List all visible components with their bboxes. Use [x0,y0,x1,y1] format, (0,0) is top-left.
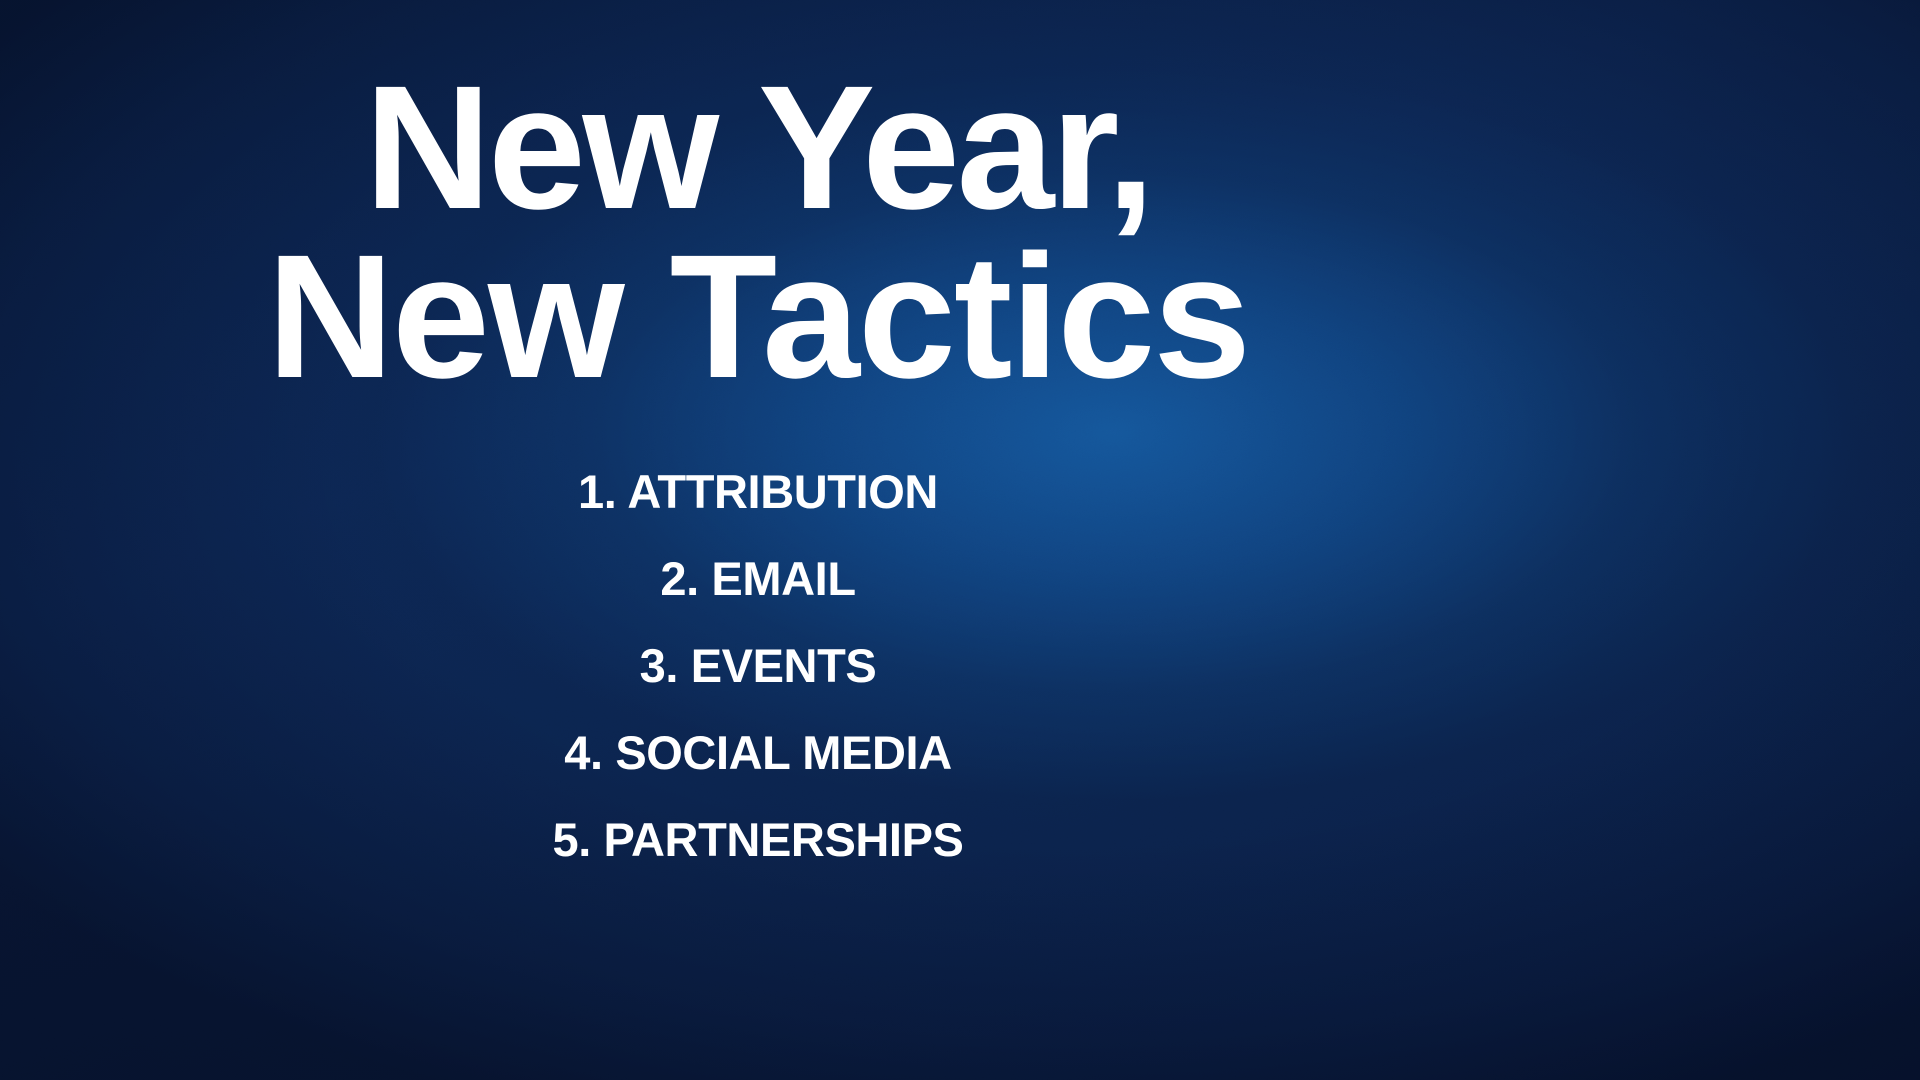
slide-content: New Year, New Tactics 1. ATTRIBUTION 2. … [0,0,1920,1080]
tactics-list-item-attribution: 1. ATTRIBUTION [0,468,1516,515]
tactics-list-item-events: 3. EVENTS [0,642,1516,689]
title-line-1: New Year, [0,64,1516,233]
tactics-list: 1. ATTRIBUTION 2. EMAIL 3. EVENTS 4. SOC… [0,468,1516,863]
slide-title: New Year, New Tactics [0,64,1516,402]
tactics-list-item-partnerships: 5. PARTNERSHIPS [0,816,1516,863]
presentation-slide: New Year, New Tactics 1. ATTRIBUTION 2. … [0,0,1920,1080]
tactics-list-item-social-media: 4. SOCIAL MEDIA [0,729,1516,776]
tactics-list-item-email: 2. EMAIL [0,555,1516,602]
title-line-2: New Tactics [0,233,1516,402]
